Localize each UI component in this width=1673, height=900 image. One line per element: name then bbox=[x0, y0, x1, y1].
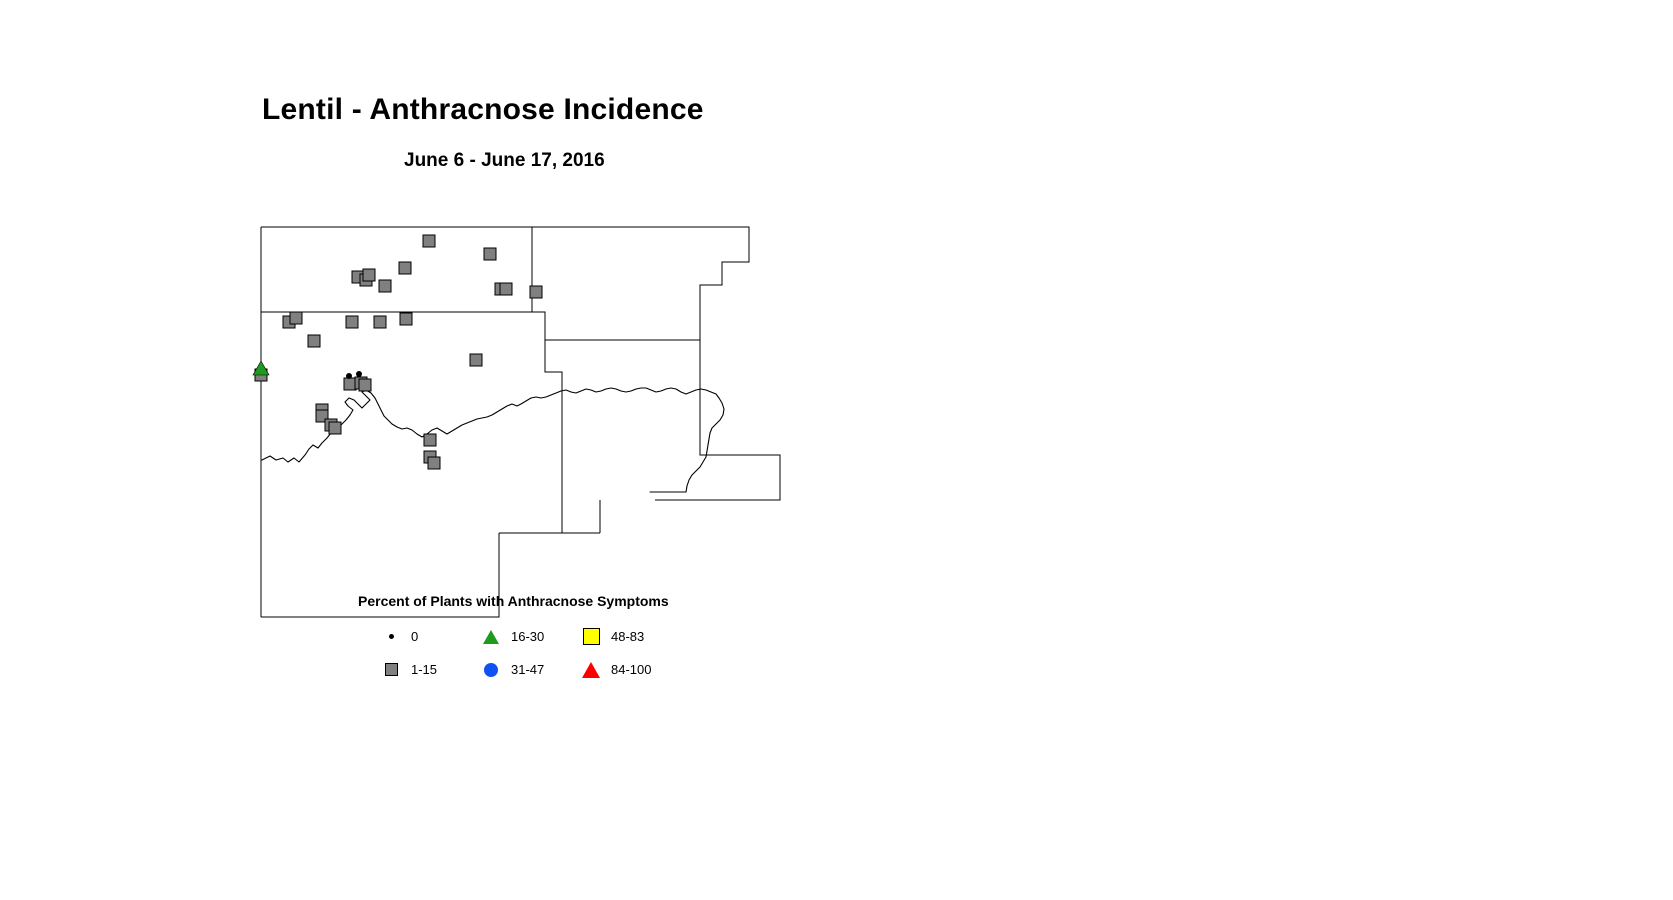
map-marker bbox=[344, 378, 356, 390]
legend-item-31-47: 31-47 bbox=[480, 653, 544, 686]
boundary-central-vertical-b bbox=[545, 340, 562, 420]
data-points bbox=[253, 235, 542, 469]
legend-symbol-yellow-square-icon bbox=[580, 626, 602, 648]
legend-symbol-gray-square-icon bbox=[380, 659, 402, 681]
legend-item-1-15: 1-15 bbox=[380, 653, 437, 686]
river-boundary bbox=[262, 388, 724, 492]
legend-item-84-100: 84-100 bbox=[580, 653, 651, 686]
legend-label-16-30: 16-30 bbox=[511, 629, 544, 644]
legend-symbol-blue-circle-icon bbox=[480, 659, 502, 681]
legend-label-48-83: 48-83 bbox=[611, 629, 644, 644]
legend-symbol-red-triangle-icon bbox=[580, 659, 602, 681]
map-marker bbox=[530, 286, 542, 298]
map-marker bbox=[253, 361, 269, 375]
map-marker bbox=[290, 312, 302, 324]
legend-row-1: 0 16-30 48-83 bbox=[380, 620, 710, 653]
legend-row-2: 1-15 31-47 84-100 bbox=[380, 653, 710, 686]
boundary-east-lower bbox=[655, 340, 780, 500]
legend-label-84-100: 84-100 bbox=[611, 662, 651, 677]
map-marker bbox=[308, 335, 320, 347]
map-marker bbox=[346, 316, 358, 328]
map-marker bbox=[399, 262, 411, 274]
map-marker bbox=[363, 269, 375, 281]
legend-label-1-15: 1-15 bbox=[411, 662, 437, 677]
map-marker bbox=[470, 354, 482, 366]
legend-symbol-green-triangle-icon bbox=[480, 626, 502, 648]
legend-label-31-47: 31-47 bbox=[511, 662, 544, 677]
map-marker bbox=[424, 434, 436, 446]
map-marker bbox=[500, 283, 512, 295]
boundary-north-east bbox=[532, 227, 749, 340]
map-marker bbox=[356, 371, 362, 377]
legend-title: Percent of Plants with Anthracnose Sympt… bbox=[358, 593, 669, 609]
map-marker bbox=[400, 313, 412, 325]
legend-symbol-dot-icon bbox=[380, 626, 402, 648]
map-marker bbox=[423, 235, 435, 247]
legend-item-0: 0 bbox=[380, 620, 418, 653]
map-figure: Lentil - Anthracnose Incidence June 6 - … bbox=[0, 0, 1673, 900]
map-marker bbox=[484, 248, 496, 260]
map-marker bbox=[374, 316, 386, 328]
map-marker bbox=[379, 280, 391, 292]
boundary-jog-a bbox=[532, 312, 545, 340]
map-marker bbox=[329, 422, 341, 434]
map-svg bbox=[0, 0, 1673, 900]
map-canvas bbox=[0, 0, 1673, 900]
legend-item-48-83: 48-83 bbox=[580, 620, 644, 653]
legend-item-16-30: 16-30 bbox=[480, 620, 544, 653]
map-marker bbox=[428, 457, 440, 469]
legend: 0 16-30 48-83 1-15 31-47 84-100 bbox=[380, 620, 710, 686]
legend-label-0: 0 bbox=[411, 629, 418, 644]
map-marker bbox=[359, 379, 371, 391]
map-marker bbox=[346, 373, 352, 379]
